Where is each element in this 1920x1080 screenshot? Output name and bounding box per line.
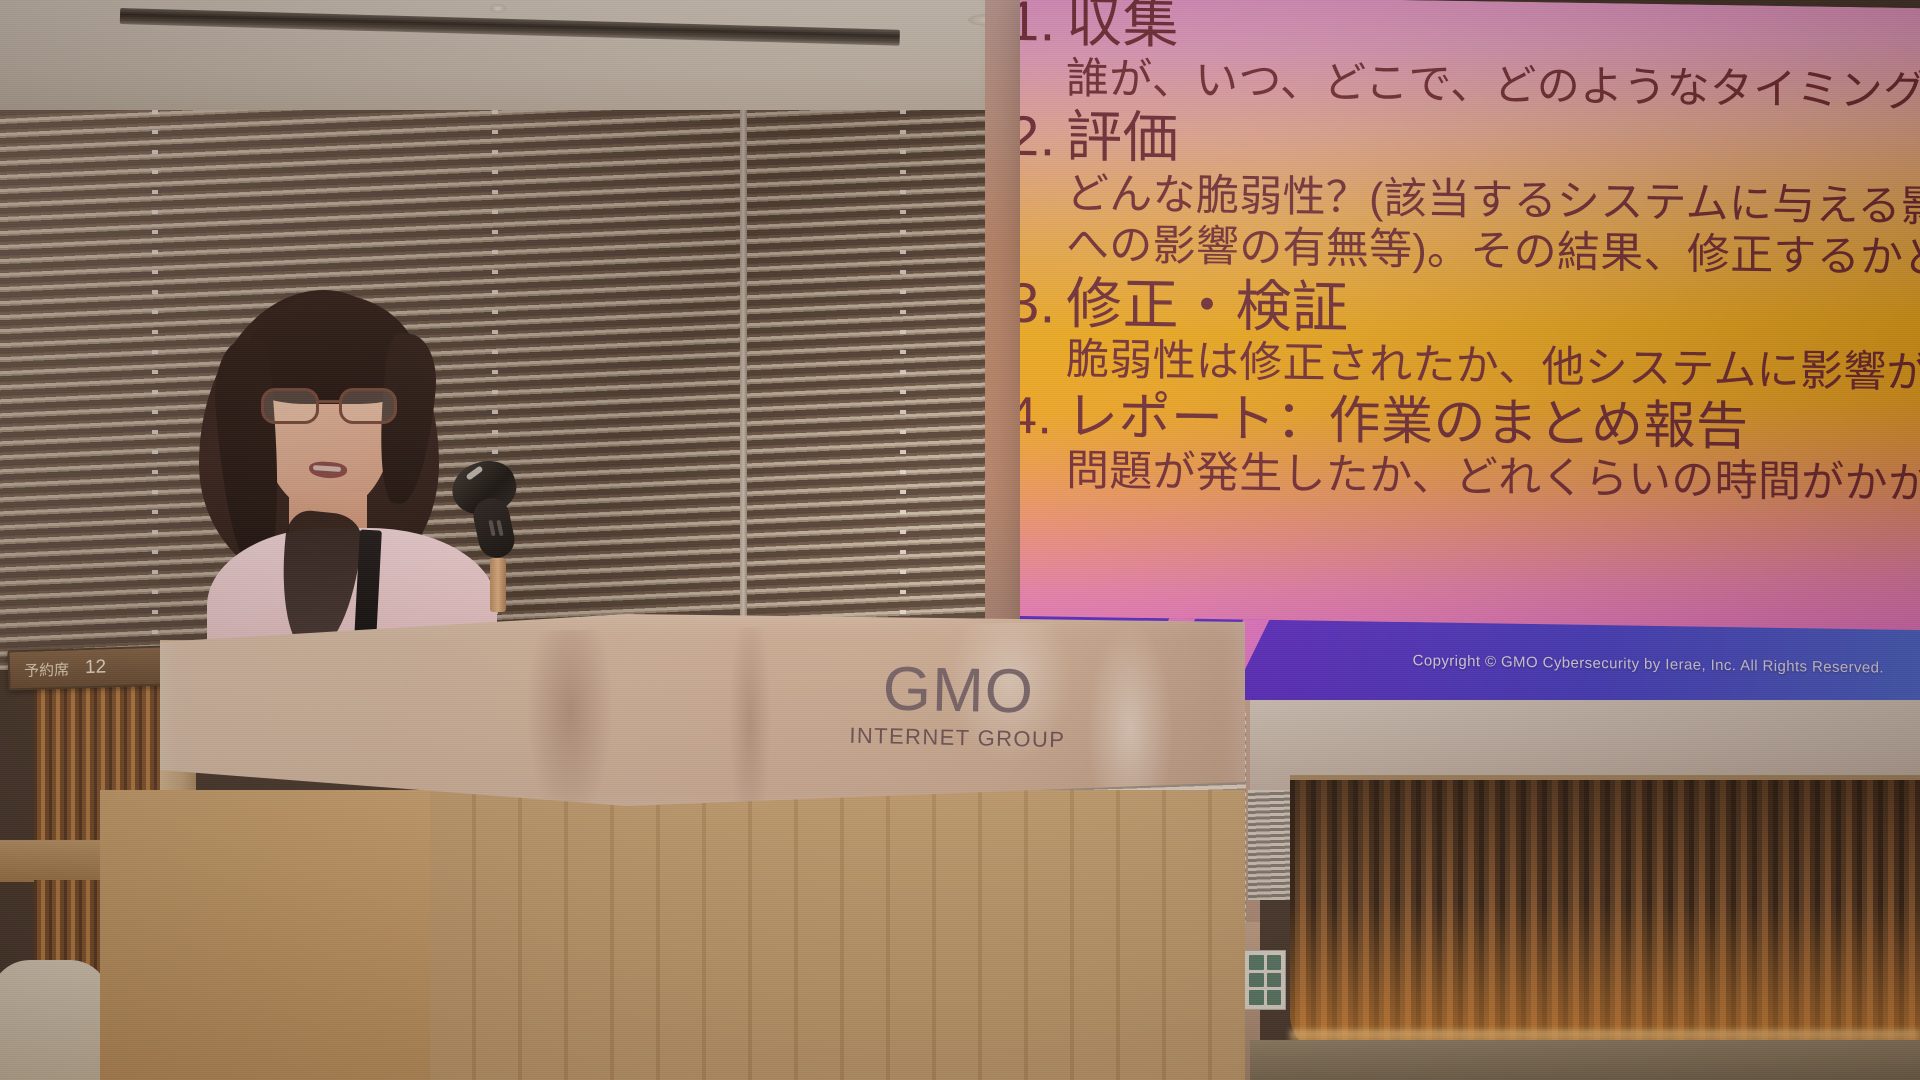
slide-list-item-4: 4.レポート：作業のまとめ報告 問題が発生したか、どれくらいの時間がかか	[1020, 387, 1920, 510]
reserved-seat-sign: 予約席 12	[7, 645, 168, 690]
eyeglasses	[259, 388, 407, 428]
eyeglass-lens-right	[339, 388, 397, 424]
speaker-person	[185, 280, 505, 640]
slide-item-4-number: 4.	[1020, 387, 1066, 446]
window-blinds	[0, 110, 1030, 670]
slide-item-2-title: 評価	[1066, 105, 1179, 170]
blind-cord-left	[152, 110, 158, 670]
microphone-gooseneck	[490, 558, 506, 612]
podium: GMO INTERNET GROUP	[160, 614, 1270, 1080]
slide-item-1-number: 1.	[1020, 0, 1066, 53]
podium-front-panel: GMO INTERNET GROUP	[160, 614, 1245, 814]
slide-item-4-title: レポート：作業のまとめ報告	[1066, 388, 1749, 457]
slide-list-item-1: 1.収集 誰が、いつ、どこで、どのようなタイミングで情	[1020, 0, 1920, 118]
slide-copyright: Copyright © GMO Cybersecurity by Ierae, …	[1413, 652, 1884, 676]
slide-item-3-number: 3.	[1020, 271, 1066, 335]
chair-backrest	[0, 960, 110, 1080]
slide-list-item-3: 3.修正・検証 脆弱性は修正されたか、他システムに影響が	[1020, 271, 1920, 399]
slide-item-1-title: 収集	[1066, 0, 1179, 54]
wood-slat-feature-wall	[1290, 775, 1920, 1055]
ceiling-air-vent	[120, 8, 900, 46]
gmo-logo-secondary: INTERNET GROUP	[849, 723, 1065, 754]
slide-item-2-number: 2.	[1020, 105, 1066, 169]
podium-base	[130, 790, 1245, 1080]
blind-cord-right	[900, 110, 906, 670]
microphone	[452, 462, 522, 572]
gmo-logo: GMO INTERNET GROUP	[849, 660, 1067, 753]
podium-base-left-panel	[100, 790, 430, 1080]
eyeglass-bridge	[319, 400, 341, 403]
slide-content: 1.収集 誰が、いつ、どこで、どのようなタイミングで情 2.評価 どんな脆弱性？…	[1020, 0, 1920, 512]
microphone-highlight	[465, 465, 483, 480]
window-mullion-a	[740, 110, 747, 670]
conference-photo-scene: 予約席 12 1.収集 誰が、いつ、どこで、どのようなタイミングで情 2.評価 …	[0, 0, 1920, 1080]
slide-list-item-2: 2.評価 どんな脆弱性？(該当するシステムに与える影 への影響の有無等)。その結…	[1020, 105, 1920, 284]
ceiling	[0, 0, 1030, 126]
ceiling-spotlight	[490, 4, 506, 13]
right-lower-wall	[1250, 1040, 1920, 1080]
eyeglass-lens-left	[261, 388, 319, 424]
reserved-seat-label: 予約席	[24, 658, 70, 680]
gmo-logo-primary: GMO	[850, 660, 1067, 723]
reserved-seat-number: 12	[85, 656, 107, 679]
slide-item-3-title: 修正・検証	[1066, 271, 1349, 338]
wood-slats	[1290, 780, 1920, 1055]
podium-base-slats	[430, 790, 1245, 1080]
